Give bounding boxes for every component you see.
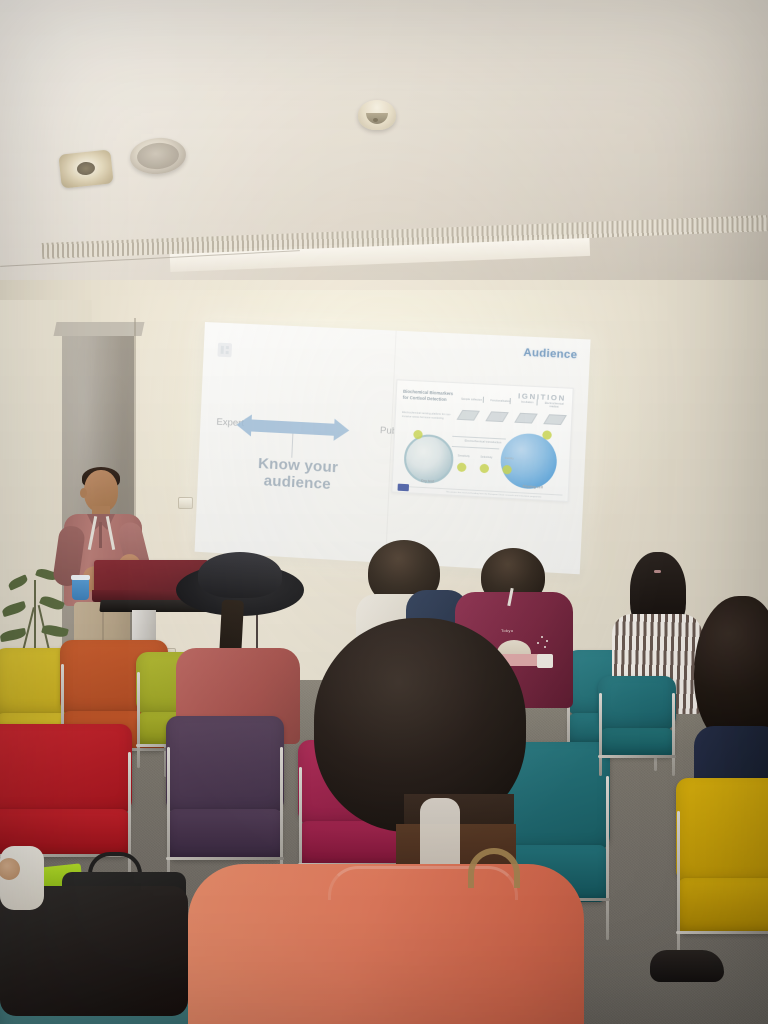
hair-clip-icon [654, 570, 661, 573]
eu-flag-icon [398, 484, 410, 492]
slide-headline: Know your audience [216, 453, 381, 496]
smoke-detector-led [373, 118, 378, 122]
poster-title: Biochemical Biomarkers for Cortisol Dete… [403, 389, 457, 404]
slide-title: Audience [523, 347, 577, 362]
poster-cell-right [500, 432, 558, 490]
poster-subtitle: Electrochemical sensing platform for non… [402, 411, 452, 422]
ceiling-light-icon [58, 149, 113, 188]
poster-caption-left: Dry test [407, 478, 448, 484]
chair-teal-2[interactable] [598, 676, 676, 772]
long-curly-hair [694, 596, 768, 746]
poster-step-label: Functionalisation [489, 399, 512, 403]
poster-thumbnail: IGNITION Biochemical Biomarkers for Cort… [391, 379, 573, 502]
poster-caption-right: Flowing cell [512, 484, 554, 490]
poster-step-label: Electrochemical readout [543, 402, 566, 409]
poster-cell-left [403, 433, 454, 484]
presenter-ear [80, 488, 87, 498]
poster-step-label: Sample collection [460, 398, 483, 402]
light-switch-icon[interactable] [178, 497, 193, 509]
slide-logo-icon [217, 343, 232, 358]
poster-dot-label: Sensitivity [452, 454, 475, 458]
person-coral-polo-foreground [188, 618, 588, 1024]
projection-screen: Audience Expert Public Know your audienc… [195, 322, 591, 574]
poster-chip-icon [485, 411, 508, 422]
smoke-detector-icon [358, 100, 396, 130]
chair-yellow-2[interactable] [676, 778, 768, 964]
poster-marker-dot [542, 430, 552, 440]
cup-icon [72, 578, 89, 600]
poster-step-label: Incubation [516, 400, 539, 404]
poster-dot-label: Selectivity [475, 455, 498, 459]
poster-chip-icon [543, 414, 567, 425]
poster-feature-dot [479, 464, 489, 474]
presentation-photo: Audience Expert Public Know your audienc… [0, 0, 768, 1024]
spectrum-center-tick [291, 434, 293, 458]
person-right-edge [694, 596, 768, 796]
column-capital [54, 322, 145, 336]
poster-feature-dot [457, 462, 467, 472]
poster-mid-note: Electrochemical transduction [458, 438, 508, 445]
hat-crown [198, 552, 282, 598]
expert-public-spectrum: Expert Public [218, 411, 381, 445]
poster-chip-icon [514, 413, 538, 424]
shoe [650, 950, 724, 982]
poster-chip-icon [457, 410, 480, 421]
presenter-placket [99, 522, 102, 548]
